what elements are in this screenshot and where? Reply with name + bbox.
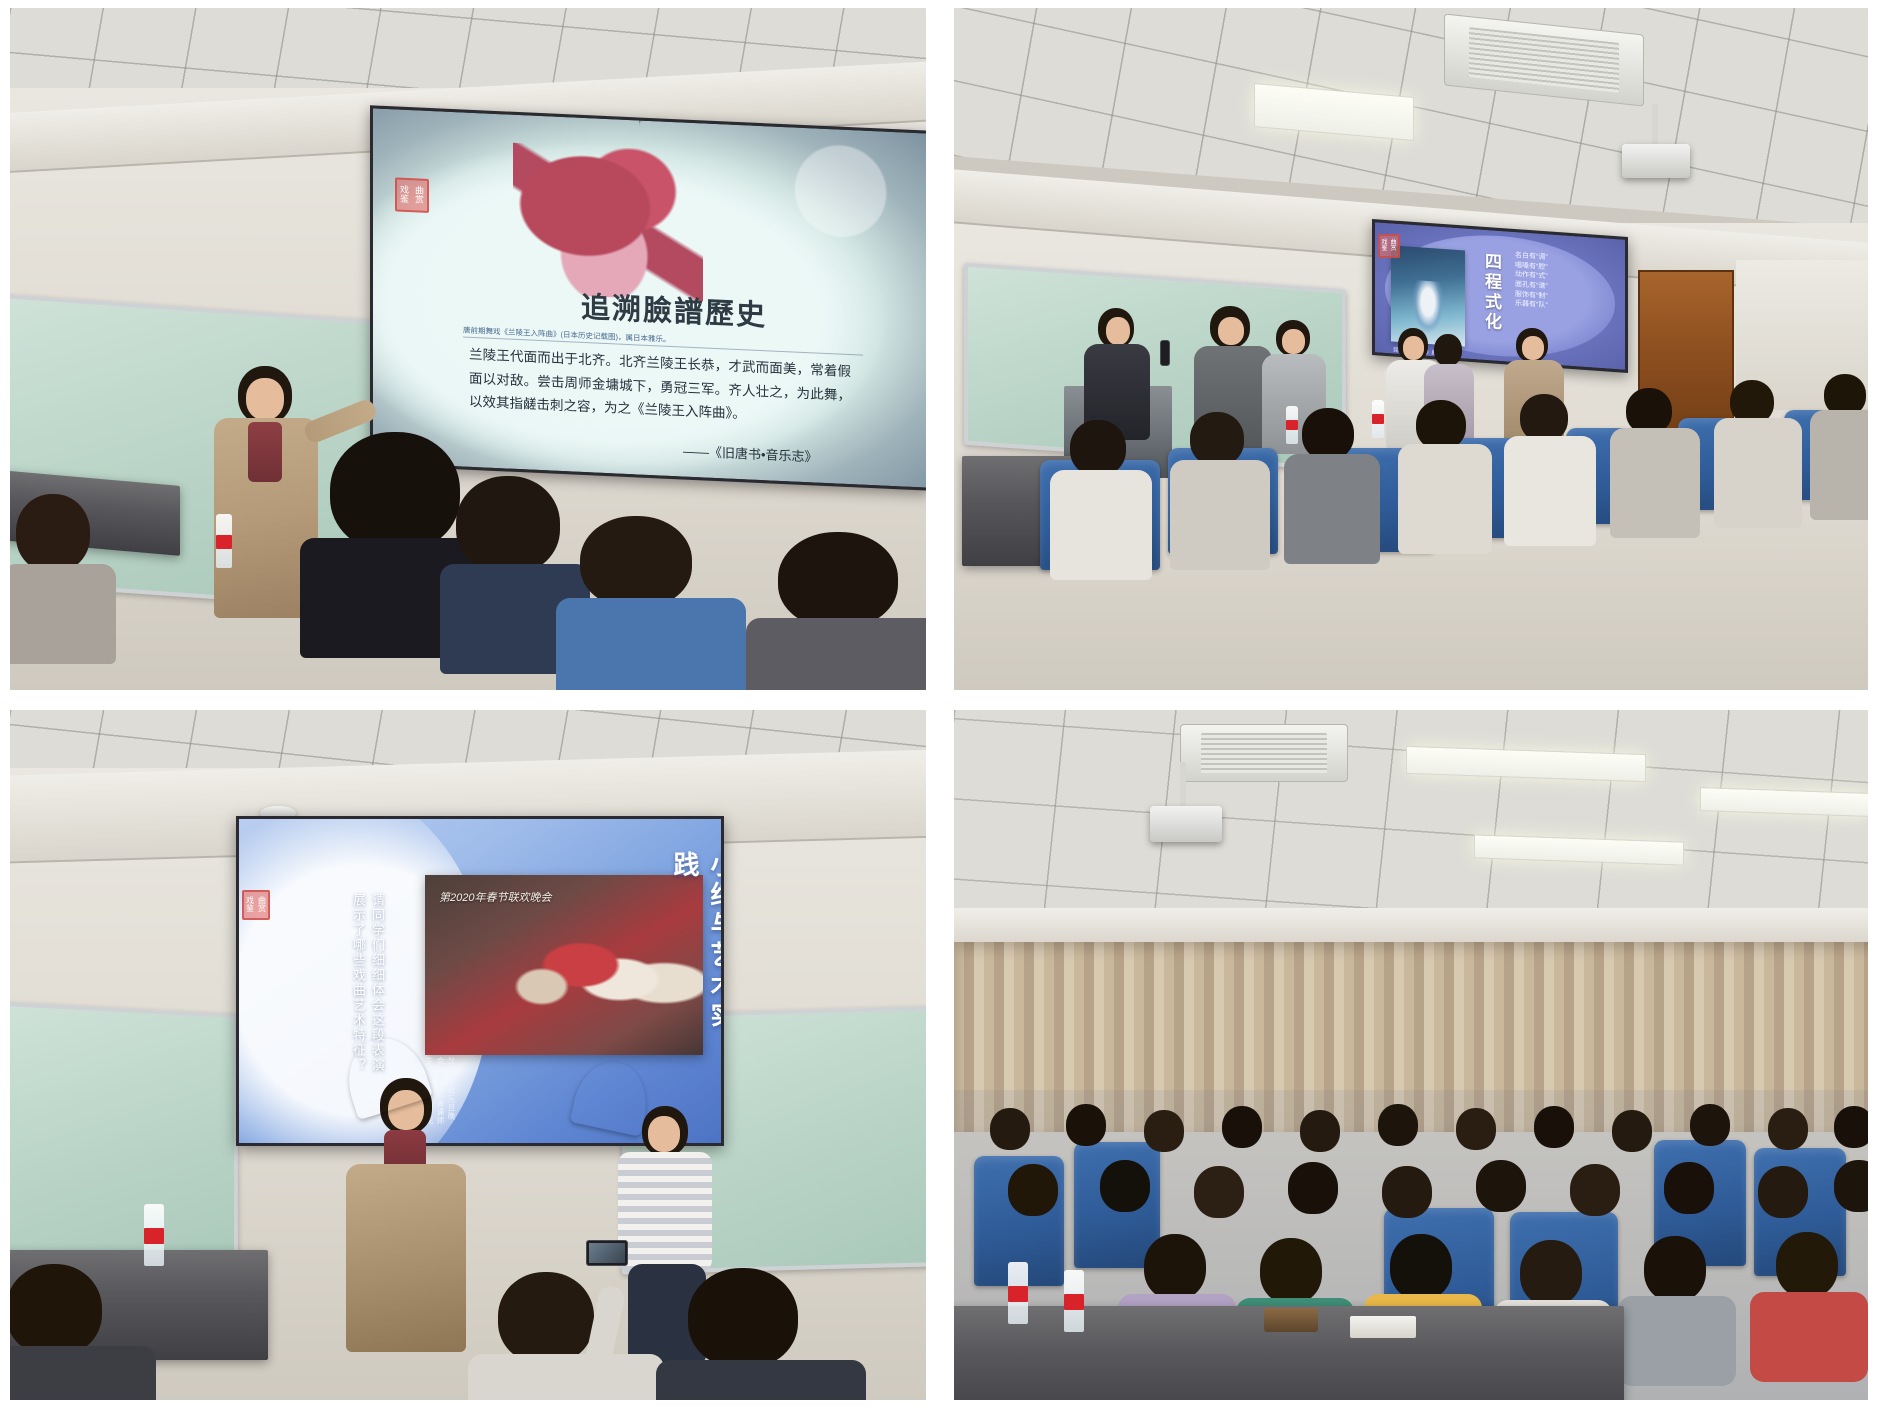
audience-head (1066, 1104, 1106, 1146)
audience-head (1008, 1164, 1058, 1216)
water-bottle (216, 514, 232, 568)
phone-screen (589, 1243, 625, 1263)
seated-student (1176, 412, 1262, 562)
seal-char-4: 赏 (1389, 246, 1398, 252)
audience-head (1758, 1166, 1808, 1218)
student-shoulders (468, 1354, 664, 1400)
foreground-student-left (10, 1264, 136, 1400)
audience-head (1664, 1162, 1714, 1214)
projector-mount-arm (1180, 762, 1186, 810)
student-head-foreground-1 (10, 494, 106, 654)
audience-head (1534, 1106, 1574, 1148)
student-hair (1302, 408, 1354, 460)
presenter-face (1106, 317, 1130, 345)
audience-head (1288, 1162, 1338, 1214)
audience-head (990, 1108, 1030, 1150)
seal-stamp: 戏 曲 鉴 赏 (1378, 234, 1400, 258)
student-hair (1190, 412, 1244, 466)
audience-head (1570, 1164, 1620, 1216)
slide-title: 追溯臉譜歷史 (581, 284, 767, 334)
student-hair (580, 516, 692, 608)
seal-char-4: 赏 (412, 195, 427, 205)
audience-head (1144, 1110, 1184, 1152)
slide-1: 戏 曲 鉴 赏 追溯臉譜歷史 唐前期舞戏《兰陵王入阵曲》(日本历史记载图)，属日… (373, 108, 926, 487)
student-presenter-left (1084, 308, 1154, 438)
seated-student (1054, 420, 1144, 570)
student-hair (456, 476, 560, 574)
student-torso (1714, 418, 1802, 528)
lanling-king-illustration (513, 143, 703, 302)
student-head (1434, 334, 1462, 366)
projector-mount-arm (1652, 104, 1658, 146)
photo-panel-top-left[interactable]: 戏 曲 鉴 赏 追溯臉譜歷史 唐前期舞戏《兰陵王入阵曲》(日本历史记载图)，属日… (10, 8, 926, 690)
student-shoulders (656, 1360, 866, 1400)
student-head-foreground-3 (446, 476, 574, 656)
photo-panel-top-right[interactable]: 四程式化 名白有“调” 唱嗓有“腔” 动作有“式” 面孔有“谱” 服饰有“制” … (954, 8, 1868, 690)
teacher-coat (346, 1164, 466, 1352)
teacher-face (246, 378, 284, 420)
microphone-device (1160, 340, 1170, 366)
list-item: 服饰有“制” (1515, 291, 1548, 301)
teacher-inner-top (248, 422, 282, 482)
student-head-foreground-4 (570, 516, 720, 676)
audience-head (1768, 1108, 1808, 1150)
ceiling-air-conditioner (1180, 724, 1348, 782)
student-torso (1050, 470, 1152, 580)
student-shoulders (10, 564, 116, 664)
seated-student (1816, 374, 1868, 524)
water-bottle (1372, 400, 1384, 438)
seal-char-4: 赏 (256, 905, 268, 913)
smartphone[interactable] (586, 1240, 628, 1266)
student-face (1403, 336, 1424, 360)
student-shoulders (10, 1346, 156, 1400)
ceiling-projector (1622, 144, 1690, 178)
seal-char-3: 鉴 (1380, 246, 1389, 252)
slide-bullet-list: 名白有“调” 唱嗓有“腔” 动作有“式” 面孔有“谱” 服饰有“制” 乐器有“队… (1515, 252, 1548, 310)
slide-title: 四程式化 (1479, 252, 1504, 358)
student-torso (1810, 410, 1868, 520)
audience-torso (1750, 1292, 1868, 1382)
student-face (648, 1116, 680, 1152)
student-shoulders (746, 618, 926, 690)
water-bottle (1064, 1270, 1084, 1332)
seal-char-3: 鉴 (244, 905, 256, 913)
student-torso (1610, 428, 1700, 538)
audience-head (1144, 1234, 1206, 1300)
seal-stamp: 戏 曲 鉴 赏 (395, 177, 429, 213)
ceiling-projector (1150, 806, 1222, 842)
audience-head (1382, 1166, 1432, 1218)
student-hair (1070, 420, 1126, 476)
student-torso (1284, 454, 1380, 564)
foreground-student-right (670, 1268, 850, 1400)
water-bottle (1286, 406, 1298, 444)
audience-head (1834, 1160, 1868, 1212)
audience-head (1194, 1166, 1244, 1218)
video-overlay-text: 第2020年春节联欢晚会 (439, 889, 551, 905)
student-torso (1504, 436, 1596, 546)
teacher-with-fan (338, 1078, 478, 1348)
audience-head (1520, 1240, 1582, 1306)
slide-surface: 第2020年春节联欢晚会 小结与艺术实践 请同学们细细体会这段表演展示了哪些戏曲… (239, 819, 721, 1143)
teacher-face (1522, 336, 1544, 360)
student-hair (10, 1264, 102, 1356)
student-face (1282, 329, 1305, 354)
green-chalkboard-left (10, 1002, 238, 1285)
audience-head (1300, 1110, 1340, 1152)
student-head-foreground-5 (766, 532, 926, 682)
audience-head (1456, 1108, 1496, 1150)
student-hair (330, 432, 460, 552)
audience-torso (1618, 1296, 1736, 1386)
photo-panel-bottom-right[interactable] (954, 710, 1868, 1400)
audience-head (1834, 1106, 1868, 1148)
student-hair (778, 532, 898, 628)
notebook (1350, 1316, 1416, 1338)
seated-student (1720, 380, 1794, 530)
student-torso (1170, 460, 1270, 570)
audience-head (1644, 1236, 1706, 1302)
audience-head (1222, 1106, 1262, 1148)
student-hair (1520, 394, 1568, 442)
seated-student (1404, 400, 1484, 550)
student-hair (498, 1272, 594, 1364)
projection-screen[interactable]: 第2020年春节联欢晚会 小结与艺术实践 请同学们细细体会这段表演展示了哪些戏曲… (236, 816, 724, 1146)
list-item: 面孔有“谱” (1515, 281, 1548, 291)
audience-head (1390, 1234, 1452, 1300)
student-hair (16, 494, 90, 572)
speaker-face (1218, 317, 1244, 345)
seated-student (1290, 408, 1372, 558)
photo-collage: 戏 曲 鉴 赏 追溯臉譜歷史 唐前期舞戏《兰陵王入阵曲》(日本历史记载图)，属日… (0, 0, 1878, 1408)
student-hair (1416, 400, 1466, 450)
wooden-block (1264, 1308, 1318, 1332)
slide-title: 小结与艺术实践 (667, 851, 721, 1047)
photo-panel-bottom-left[interactable]: 第2020年春节联欢晚会 小结与艺术实践 请同学们细细体会这段表演展示了哪些戏曲… (10, 710, 926, 1400)
seated-student (1510, 394, 1588, 544)
seal-stamp: 戏 曲 鉴 赏 (242, 890, 270, 920)
seal-char-3: 鉴 (397, 195, 412, 205)
audience-head (1378, 1104, 1418, 1146)
audience-head (1476, 1160, 1526, 1212)
seated-student (1616, 388, 1692, 538)
audience-head (1612, 1110, 1652, 1152)
student-shoulders (556, 598, 746, 690)
slide-3: 第2020年春节联欢晚会 小结与艺术实践 请同学们细细体会这段表演展示了哪些戏曲… (239, 819, 721, 1143)
water-bottle (1008, 1262, 1028, 1324)
slide-surface: 戏 曲 鉴 赏 追溯臉譜歷史 唐前期舞戏《兰陵王入阵曲》(日本历史记载图)，属日… (373, 108, 926, 487)
student-torso (1398, 444, 1492, 554)
audience-head (1776, 1232, 1838, 1298)
list-item: 唱嗓有“腔” (1515, 262, 1548, 272)
water-bottle (144, 1204, 164, 1266)
list-item: 名白有“调” (1515, 252, 1548, 262)
list-item: 动作有“式” (1515, 271, 1548, 281)
audience-row-back (954, 1102, 1868, 1166)
student-hair (688, 1268, 798, 1368)
audience-head (1690, 1104, 1730, 1146)
student-filming-with-phone (474, 1250, 664, 1400)
audience-head (1260, 1238, 1322, 1304)
audience-head (1100, 1160, 1150, 1212)
